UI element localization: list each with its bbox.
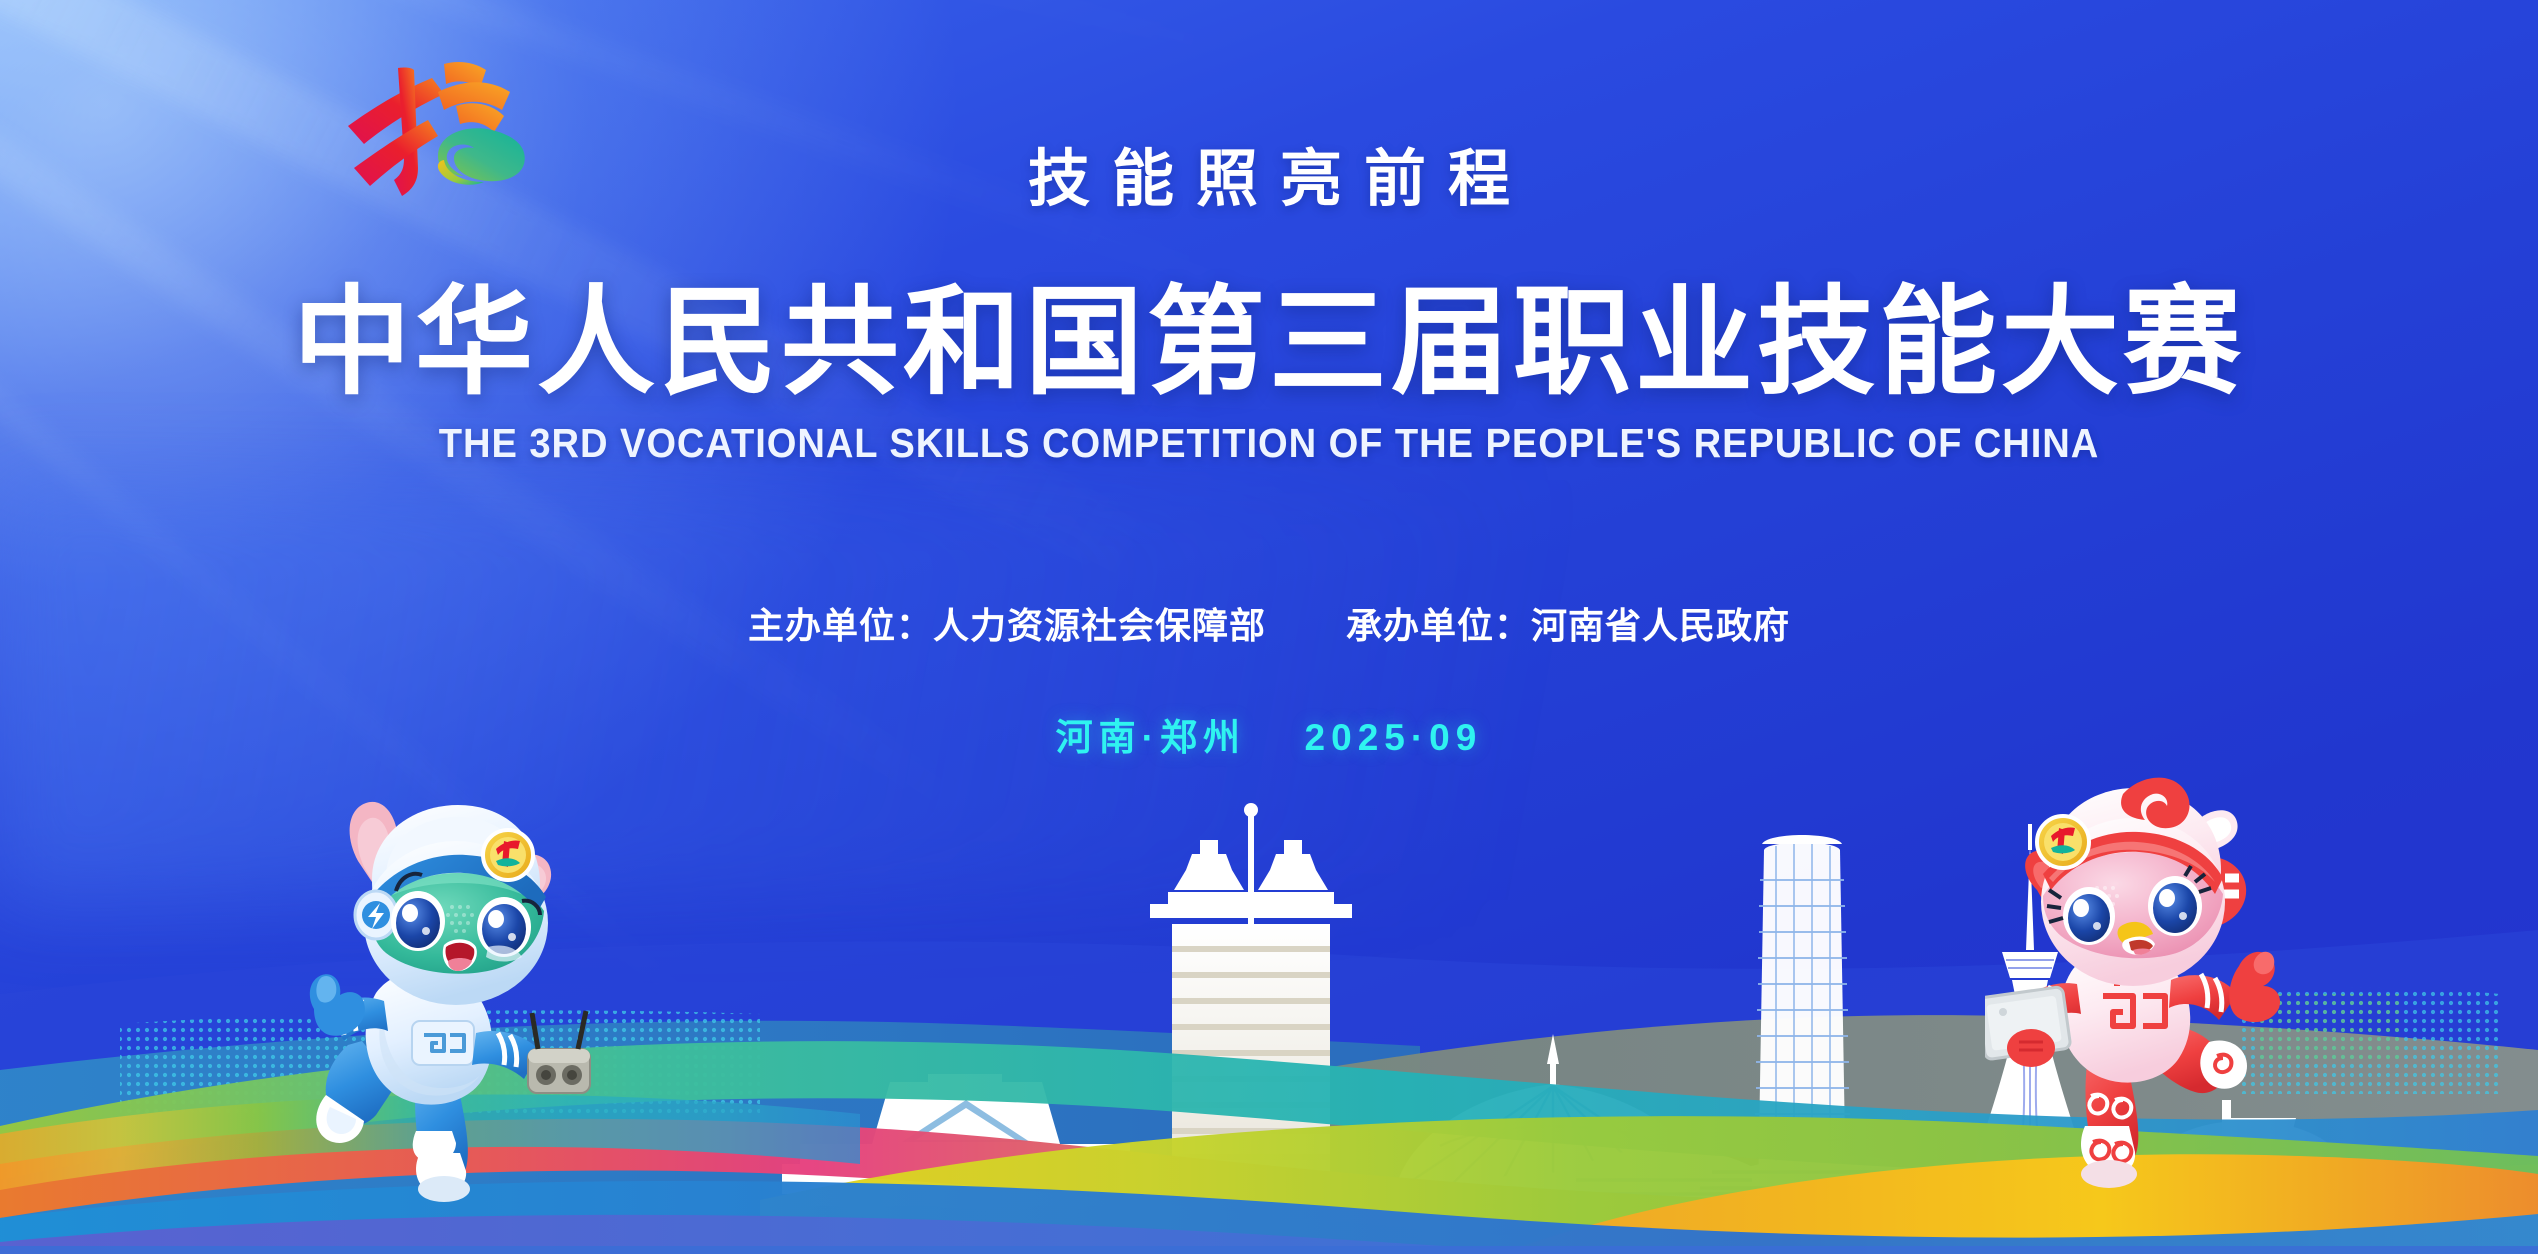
poster-canvas: 技能照亮前程 中华人民共和国第三届职业技能大赛 THE 3RD VOCATION… [0, 0, 2538, 1254]
tagline: 技能照亮前程 [0, 128, 2538, 218]
mascot-left-blue [300, 795, 600, 1215]
mascot-right-pink [1985, 770, 2285, 1200]
host-label: 承办单位：河南省人民政府 [1346, 605, 1790, 646]
organizers-line: 主办单位：人力资源社会保障部 承办单位：河南省人民政府 [0, 597, 2538, 649]
light-ray [0, 0, 1748, 484]
page-subtitle: THE 3RD VOCATIONAL SKILLS COMPETITION OF… [89, 420, 2449, 467]
page-title: 中华人民共和国第三届职业技能大赛 [0, 280, 2538, 407]
organizer-label: 主办单位：人力资源社会保障部 [748, 605, 1266, 646]
